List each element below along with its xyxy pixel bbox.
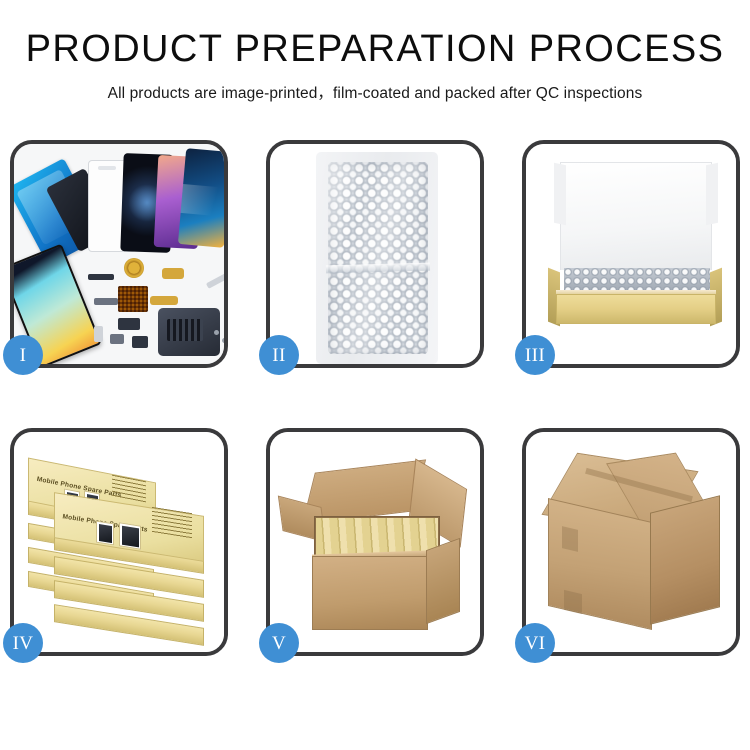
step-5-photo [270, 432, 480, 652]
open-carton-image [270, 432, 480, 652]
carton-side-panel [426, 538, 460, 624]
vibrator-motor-icon [132, 336, 148, 348]
bubble-wrap-sheen [328, 162, 428, 354]
connector-strip-icon [94, 298, 118, 305]
page-title: PRODUCT PREPARATION PROCESS [0, 30, 750, 70]
carton-front-face [548, 498, 652, 630]
sealed-carton-image [526, 432, 736, 652]
process-steps-grid: I II [10, 140, 740, 656]
step-4-photo: Mobile Phone Spare Parts Mobile Phone Sp… [14, 432, 224, 652]
box-lid-open [560, 162, 712, 270]
carton-tape-mark [562, 526, 578, 552]
step-card-4[interactable]: Mobile Phone Spare Parts Mobile Phone Sp… [10, 428, 228, 656]
chip-array-icon [118, 286, 148, 312]
box-screen-thumb [119, 522, 141, 549]
step-card-2[interactable]: II [266, 140, 484, 368]
flex-ribbon-icon [150, 296, 178, 305]
phones-and-parts-image [14, 144, 224, 364]
box-front-panel [556, 294, 716, 324]
box-lid-tab-left [554, 163, 566, 226]
step-card-3[interactable]: III [522, 140, 740, 368]
step-card-5[interactable]: V [266, 428, 484, 656]
step-card-6[interactable]: VI [522, 428, 740, 656]
box-lid-tab-right [706, 163, 718, 226]
camera-module-icon [110, 334, 124, 344]
screw-icon [222, 338, 224, 343]
step-6-photo [526, 432, 736, 652]
tweezers-icon [206, 273, 224, 289]
bubble-wrap-image [270, 144, 480, 364]
page-subtitle: All products are image-printed，film-coat… [0, 81, 750, 103]
step-1-photo [14, 144, 224, 364]
step-badge-3: III [515, 335, 555, 375]
carton-tape-mark [564, 590, 582, 614]
step-badge-2: II [259, 335, 299, 375]
antenna-strip-icon [88, 274, 114, 280]
box-stack-image: Mobile Phone Spare Parts Mobile Phone Sp… [20, 448, 224, 648]
sim-tray-icon [94, 326, 103, 342]
step-badge-1: I [3, 335, 43, 375]
page-header: PRODUCT PREPARATION PROCESS All products… [0, 0, 750, 103]
step-3-photo [526, 144, 736, 364]
phone-teal-display-icon [178, 148, 224, 248]
product-preparation-page: PRODUCT PREPARATION PROCESS All products… [0, 0, 750, 750]
step-badge-5: V [259, 623, 299, 663]
step-card-1[interactable]: I [10, 140, 228, 368]
step-2-photo [270, 144, 480, 364]
battery-connector-icon [118, 318, 140, 330]
logic-board-icon [158, 308, 220, 356]
flex-cable-icon [162, 268, 184, 279]
spare-parts-cluster [88, 256, 224, 362]
inner-box-image [526, 144, 736, 364]
step-badge-6: VI [515, 623, 555, 663]
carton-right-face [650, 495, 720, 624]
speaker-coil-icon [124, 258, 144, 278]
screw-icon [214, 330, 219, 335]
carton-front-panel [312, 556, 428, 630]
box-screen-thumb [96, 521, 114, 546]
step-badge-4: IV [3, 623, 43, 663]
